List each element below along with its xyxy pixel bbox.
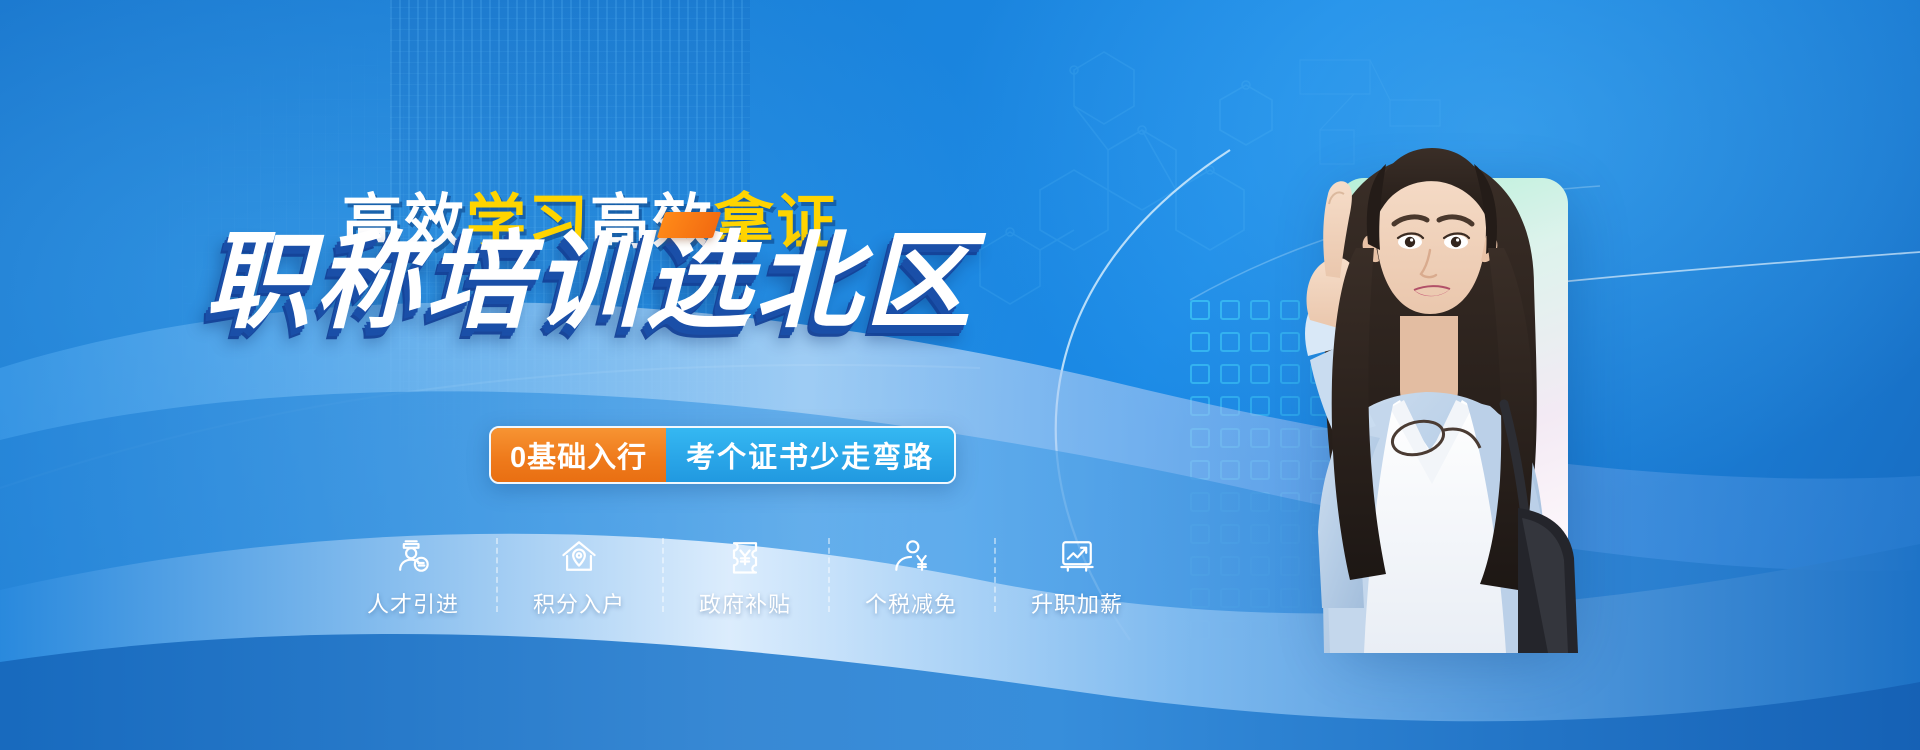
feature-list: 人才引进 积分入户 政府补贴	[330, 534, 1160, 630]
feature-label-1: 积分入户	[533, 587, 625, 619]
chart-easel-icon	[1055, 534, 1099, 578]
orange-accent-mark	[657, 212, 721, 238]
tagline-badge-left: 0基础入行	[491, 428, 666, 482]
page-title: 职称培训选北区	[205, 228, 975, 336]
feature-item-2[interactable]: 政府补贴	[662, 534, 828, 619]
feature-label-0: 人才引进	[367, 587, 459, 619]
promo-banner: 高效学习高效拿证 职称培训选北区 0基础入行 考个证书少走弯路 人才引进	[0, 0, 1920, 750]
tagline-badge-right: 考个证书少走弯路	[666, 428, 954, 482]
headline-wrap: 职称培训选北区	[0, 228, 1180, 338]
feature-label-3: 个税减免	[865, 587, 957, 619]
voucher-yuan-icon	[723, 534, 767, 578]
house-pin-icon	[557, 534, 601, 578]
content-block: 高效学习高效拿证 职称培训选北区 0基础入行 考个证书少走弯路 人才引进	[0, 0, 1180, 750]
person-yuan-icon	[889, 534, 933, 578]
feature-label-4: 升职加薪	[1031, 587, 1123, 619]
graduate-person-icon	[391, 534, 435, 578]
tagline-badge: 0基础入行 考个证书少走弯路	[489, 426, 956, 484]
feature-label-2: 政府补贴	[699, 587, 791, 619]
feature-item-4[interactable]: 升职加薪	[994, 534, 1160, 619]
feature-item-0[interactable]: 人才引进	[330, 534, 496, 619]
feature-item-1[interactable]: 积分入户	[496, 534, 662, 619]
avatar	[1218, 108, 1638, 653]
feature-item-3[interactable]: 个税减免	[828, 534, 994, 619]
